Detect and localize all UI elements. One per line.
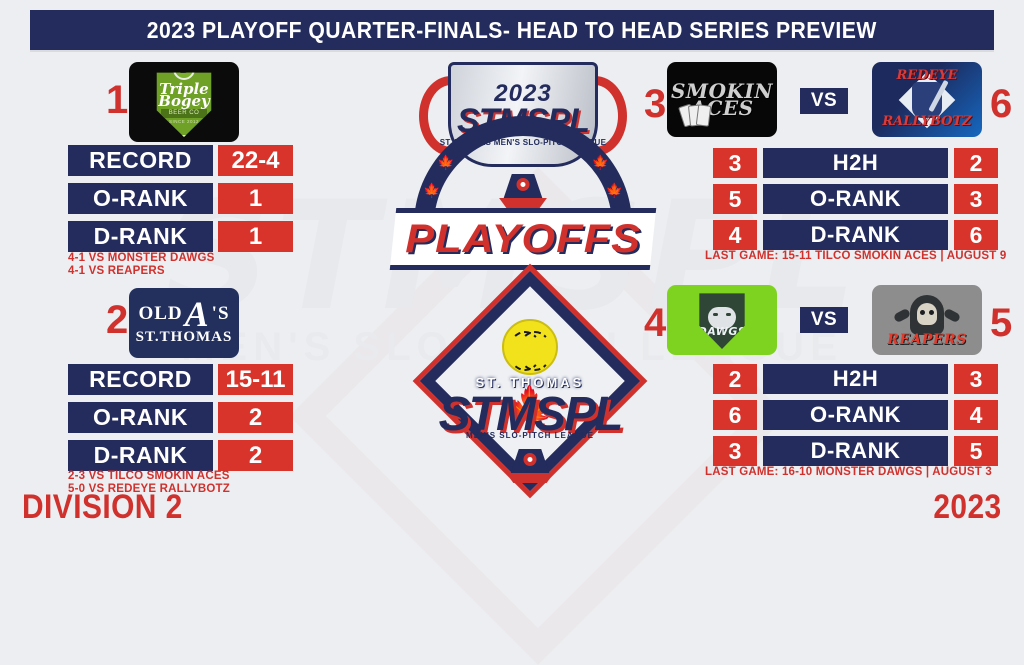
old-as-line1-right: 'S <box>212 303 230 325</box>
reaper-skull-icon <box>917 303 937 325</box>
page-title: 2023 PLAYOFF QUARTER-FINALS- HEAD TO HEA… <box>147 17 877 44</box>
head-to-head-note: 2-3 VS TILCO SMOKIN ACES <box>68 470 230 483</box>
playoffs-banner: PLAYOFFS <box>390 208 657 270</box>
stat-label: D-RANK <box>763 436 948 466</box>
stats-table-right-1: 3 H2H 2 5 O-RANK 3 4 D-RANK 6 <box>713 148 998 250</box>
locomotive-icon <box>495 168 551 212</box>
maple-leaf-icon: 🍁 <box>592 154 609 171</box>
stat-row: 5 O-RANK 3 <box>713 184 998 214</box>
triple-bogey-script: Triple Bogey <box>155 83 213 107</box>
stats-table-left-2: RECORD 15-11 O-RANK 2 D-RANK 2 <box>68 364 293 471</box>
stat-value: 22-4 <box>218 145 293 176</box>
stat-label: H2H <box>763 148 948 178</box>
stat-row: 6 O-RANK 4 <box>713 400 998 430</box>
reaper-arm-icon <box>893 308 911 323</box>
stat-row: 4 D-RANK 6 <box>713 220 998 250</box>
dawgs-name: DAWGS <box>695 325 749 338</box>
maple-leaf-icon: 🍁 <box>423 182 440 199</box>
rallybotz-line1: REDEYE <box>872 68 982 83</box>
old-as-logo: OLD A 'S ST.THOMAS <box>129 288 239 358</box>
stat-label: D-RANK <box>68 221 213 252</box>
seed-number-right-1-home: 3 <box>644 84 666 124</box>
triple-bogey-mark: B <box>173 62 195 80</box>
old-as-line1: OLD A 'S <box>138 300 229 328</box>
stat-row: D-RANK 2 <box>68 440 293 471</box>
stat-row: RECORD 15-11 <box>68 364 293 395</box>
stat-value-home: 6 <box>713 400 757 430</box>
stat-row: 3 H2H 2 <box>713 148 998 178</box>
stat-value-away: 5 <box>954 436 998 466</box>
stat-value-away: 3 <box>954 364 998 394</box>
stat-row: D-RANK 1 <box>68 221 293 252</box>
softball-icon <box>502 319 558 375</box>
stat-value-home: 3 <box>713 436 757 466</box>
old-as-line1-left: OLD <box>138 303 182 325</box>
seed-number-right-1-away: 6 <box>990 84 1012 124</box>
stat-row: O-RANK 1 <box>68 183 293 214</box>
head-to-head-note: 4-1 VS REAPERS <box>68 265 165 278</box>
stat-label: O-RANK <box>763 184 948 214</box>
last-game-note-2: LAST GAME: 16-10 MONSTER DAWGS | AUGUST … <box>705 466 992 479</box>
maple-leaf-icon: 🍁 <box>606 182 623 199</box>
stat-label: O-RANK <box>68 402 213 433</box>
old-as-line2: ST.THOMAS <box>136 329 233 346</box>
smokin-aces-logo: SMOKIN ACES <box>667 62 777 137</box>
stat-value: 2 <box>218 440 293 471</box>
stat-label: O-RANK <box>68 183 213 214</box>
seed-number-left-1: 1 <box>106 80 128 120</box>
stat-value-home: 3 <box>713 148 757 178</box>
stat-row: O-RANK 2 <box>68 402 293 433</box>
maple-leaf-icon: 🍁 <box>437 154 454 171</box>
stat-label: O-RANK <box>763 400 948 430</box>
seed-number-left-2: 2 <box>106 300 128 340</box>
monster-dawgs-logo: DAWGS <box>667 285 777 355</box>
triple-bogey-logo: B Triple Bogey BEER CO SINCE 2012 <box>129 62 239 142</box>
redeye-rallybotz-logo: REDEYE RALLYBOTZ <box>872 62 982 137</box>
seed-number-right-2-away: 5 <box>990 303 1012 343</box>
triple-bogey-shield-icon: B Triple Bogey BEER CO SINCE 2012 <box>153 67 215 137</box>
stat-row: 3 D-RANK 5 <box>713 436 998 466</box>
poster-canvas: STMSPL MEN'S SLO-PITCH LEAGUE 2023 PLAYO… <box>0 0 1024 534</box>
stat-value: 1 <box>218 183 293 214</box>
stat-label: D-RANK <box>68 440 213 471</box>
playing-cards-icon <box>681 105 715 129</box>
stmspl-diamond-logo: ST. THOMAS 🍁 STMSPL MEN'S SLO-PITCH LEAG… <box>410 295 650 495</box>
old-as-monogram: A <box>185 300 210 328</box>
reapers-logo: REAPERS <box>872 285 982 355</box>
stat-value-home: 5 <box>713 184 757 214</box>
vs-badge-2: VS <box>800 307 848 333</box>
triple-bogey-sub: SINCE 2012 <box>155 119 213 124</box>
seed-number-right-2-home: 4 <box>644 303 666 343</box>
stats-table-right-2: 2 H2H 3 6 O-RANK 4 3 D-RANK 5 <box>713 364 998 466</box>
stat-label: RECORD <box>68 145 213 176</box>
stats-table-left-1: RECORD 22-4 O-RANK 1 D-RANK 1 <box>68 145 293 252</box>
stat-row: RECORD 22-4 <box>68 145 293 176</box>
locomotive-icon <box>502 443 558 487</box>
stat-label: RECORD <box>68 364 213 395</box>
reaper-arm-icon <box>943 308 961 323</box>
division-label: DIVISION 2 <box>22 488 183 527</box>
stat-value-away: 4 <box>954 400 998 430</box>
stat-value: 1 <box>218 221 293 252</box>
playoffs-trophy-logo: 2023 STMSPL ST. THOMAS MEN'S SLO-PITCH L… <box>393 58 653 273</box>
vs-badge-1: VS <box>800 88 848 114</box>
stat-value-away: 6 <box>954 220 998 250</box>
stat-value: 15-11 <box>218 364 293 395</box>
stat-value-home: 4 <box>713 220 757 250</box>
stat-label: D-RANK <box>763 220 948 250</box>
dawgs-shield-icon: DAWGS <box>695 291 749 349</box>
stat-value-away: 2 <box>954 148 998 178</box>
stat-value: 2 <box>218 402 293 433</box>
stat-value-away: 3 <box>954 184 998 214</box>
footer-year: 2023 <box>934 488 1002 527</box>
stat-value-home: 2 <box>713 364 757 394</box>
stat-row: 2 H2H 3 <box>713 364 998 394</box>
header-banner: 2023 PLAYOFF QUARTER-FINALS- HEAD TO HEA… <box>30 10 994 50</box>
reapers-name: REAPERS <box>872 332 982 348</box>
stat-label: H2H <box>763 364 948 394</box>
head-to-head-note: 4-1 VS MONSTER DAWGS <box>68 252 215 265</box>
playoffs-banner-text: PLAYOFFS <box>405 217 641 262</box>
last-game-note-1: LAST GAME: 15-11 TILCO SMOKIN ACES | AUG… <box>705 250 1006 263</box>
rallybotz-line2: RALLYBOTZ <box>872 114 982 129</box>
triple-bogey-banner: BEER CO <box>161 109 207 118</box>
diamond-league-subtitle: MEN'S SLO-PITCH LEAGUE <box>410 431 650 440</box>
